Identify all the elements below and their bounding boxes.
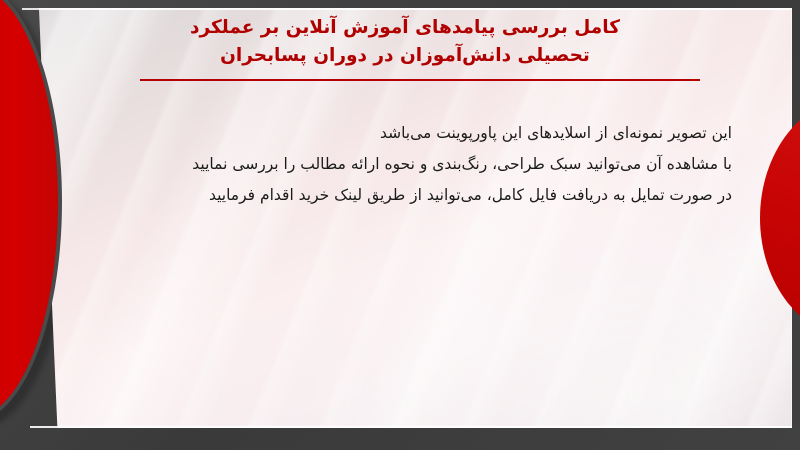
title-underline-rule: [140, 79, 700, 81]
body-line-2: با مشاهده آن می‌توانید سبک طراحی، رنگ‌بن…: [82, 149, 732, 180]
body-line-3: در صورت تمایل به دریافت فایل کامل، می‌تو…: [82, 180, 732, 211]
presentation-slide: کامل بررسی پیامدهای آموزش آنلاین بر عملک…: [0, 0, 800, 450]
slide-content-panel: [22, 8, 792, 428]
slide-title-line-2: تحصیلی دانش‌آموزان در دوران پسابحران: [60, 42, 750, 70]
slide-body-text: این تصویر نمونه‌ای از اسلایدهای این پاور…: [82, 118, 732, 211]
slide-title-line-1: کامل بررسی پیامدهای آموزش آنلاین بر عملک…: [60, 14, 750, 42]
panel-bottom-edge: [30, 426, 792, 428]
body-line-1: این تصویر نمونه‌ای از اسلایدهای این پاور…: [82, 118, 732, 149]
slide-title: کامل بررسی پیامدهای آموزش آنلاین بر عملک…: [60, 14, 750, 70]
panel-top-edge: [22, 8, 792, 10]
